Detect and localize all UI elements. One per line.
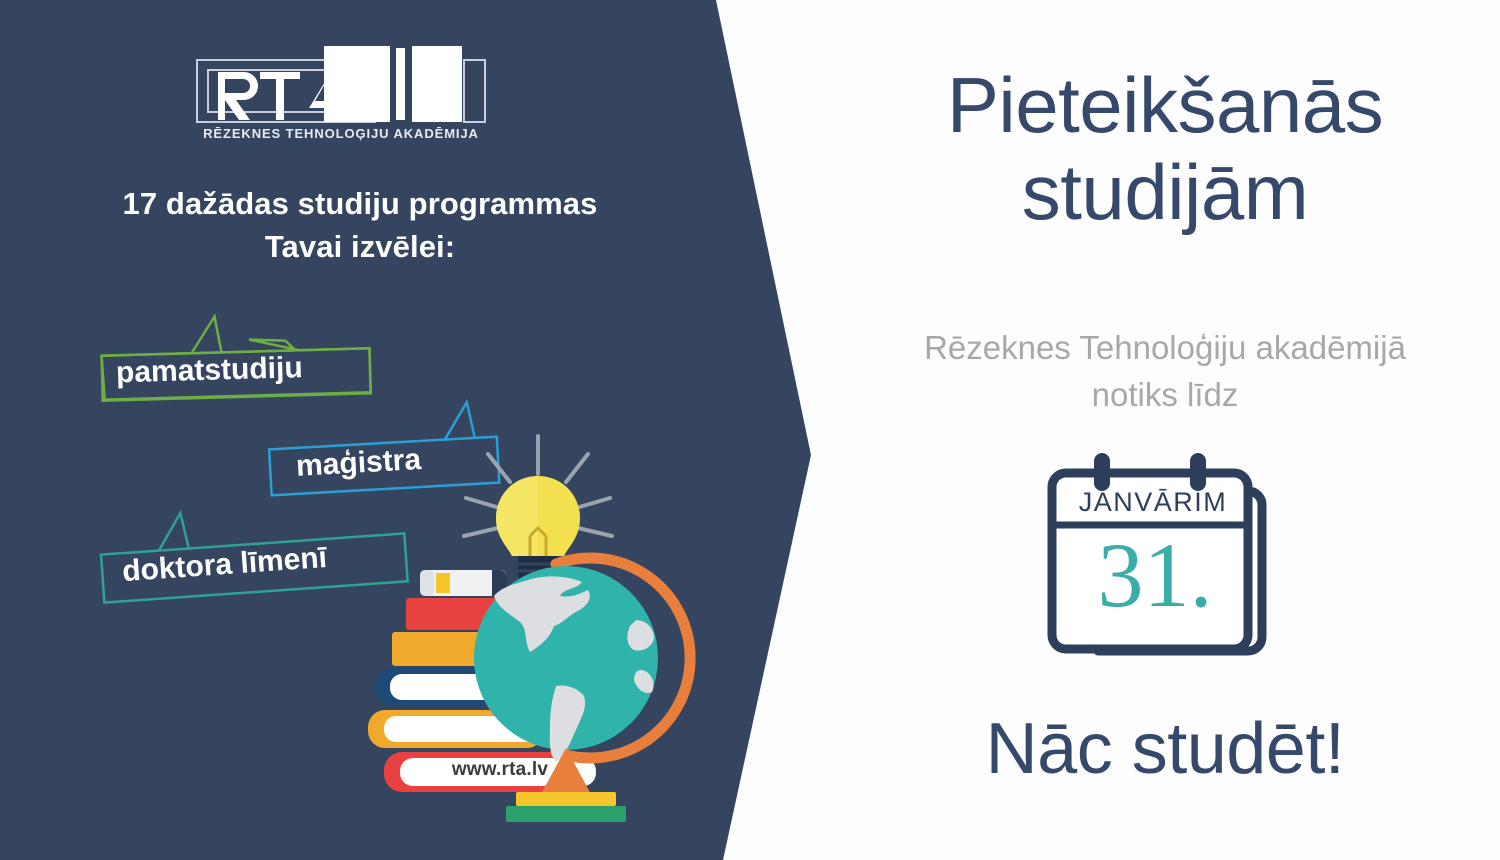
- title-line-1: Pieteikšanās: [830, 62, 1500, 149]
- page-title: Pieteikšanās studijām: [830, 62, 1500, 237]
- title-line-2: studijām: [830, 149, 1500, 236]
- website-url[interactable]: www.rta.lv: [416, 759, 584, 781]
- tag-label-bachelor: pamatstudiju: [116, 351, 304, 390]
- right-panel: Pieteikšanās studijām Rēzeknes Tehnoloģi…: [830, 0, 1500, 860]
- study-level-tag-bachelor: pamatstudiju: [99, 334, 373, 406]
- calendar-month-label: JANVĀRIM: [1064, 487, 1242, 518]
- deadline-calendar-icon: JANVĀRIM 31.: [1026, 445, 1306, 685]
- subtitle-line-1: Rēzeknes Tehnoloģiju akadēmijā: [830, 325, 1500, 372]
- promo-banner: RĒZEKNES TEHNOLOĢIJU AKADĒMIJA 17 dažāda…: [0, 0, 1500, 860]
- left-headline: 17 dažādas studiju programmas Tavai izvē…: [40, 183, 680, 269]
- rta-logo: RĒZEKNES TEHNOLOĢIJU AKADĒMIJA: [196, 46, 486, 142]
- headline-line-1: 17 dažādas studiju programmas: [40, 183, 680, 226]
- call-to-action: Nāc studēt!: [830, 708, 1500, 790]
- subtitle-line-2: notiks līdz: [830, 372, 1500, 419]
- logo-full-name: RĒZEKNES TEHNOLOĢIJU AKADĒMIJA: [203, 126, 479, 141]
- headline-line-2: Tavai izvēlei:: [40, 226, 680, 269]
- study-illustration: www.rta.lv: [360, 430, 700, 840]
- book-top: [420, 570, 506, 596]
- calendar-day-label: 31.: [1064, 529, 1246, 621]
- page-subtitle: Rēzeknes Tehnoloģiju akadēmijā notiks lī…: [830, 325, 1500, 419]
